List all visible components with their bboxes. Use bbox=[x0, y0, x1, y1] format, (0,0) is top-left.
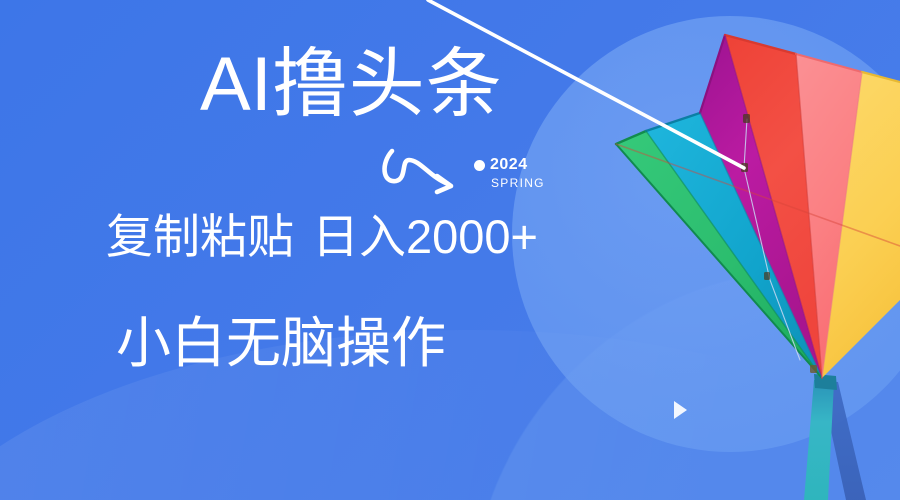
poster-canvas: AI撸头条 2024 SPRING 复制粘贴日入2000+ 小白无脑操作 bbox=[0, 0, 900, 500]
badge-year: 2024 bbox=[490, 157, 528, 173]
page-title: AI撸头条 bbox=[200, 47, 503, 123]
play-triangle-icon bbox=[674, 401, 687, 419]
page-title-latin: AI bbox=[200, 42, 272, 127]
subline-left: 复制粘贴 bbox=[106, 210, 294, 263]
copy-block: AI撸头条 2024 SPRING 复制粘贴日入2000+ 小白无脑操作 bbox=[0, 0, 620, 500]
page-title-cjk: 撸头条 bbox=[272, 42, 503, 127]
subline-right: 日入2000+ bbox=[312, 210, 538, 263]
badge-season: SPRING bbox=[491, 177, 574, 189]
year-badge: 2024 SPRING bbox=[474, 157, 574, 189]
dot-icon bbox=[474, 160, 485, 171]
year-row: 2024 bbox=[474, 157, 574, 173]
tagline: 小白无脑操作 bbox=[116, 316, 446, 371]
subline: 复制粘贴日入2000+ bbox=[106, 213, 538, 260]
